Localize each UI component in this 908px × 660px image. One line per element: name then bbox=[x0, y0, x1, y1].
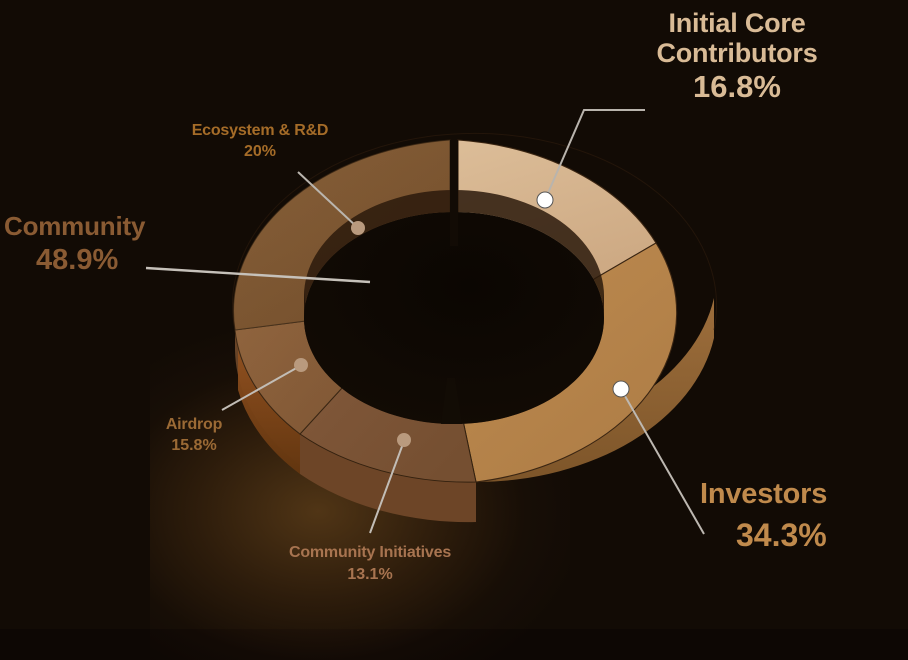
label-airdrop-name: Airdrop bbox=[140, 416, 248, 434]
label-community-name: Community bbox=[4, 212, 164, 241]
label-investors: Investors 34.3% bbox=[700, 478, 900, 554]
label-initial-core-contributors-line2: Contributors bbox=[639, 38, 835, 68]
label-investors-name: Investors bbox=[700, 478, 900, 510]
label-initial-core-contributors: Initial Core Contributors 16.8% bbox=[639, 8, 835, 105]
callout-dot-airdrop bbox=[294, 358, 308, 372]
donut-body bbox=[232, 133, 716, 522]
label-ecosystem-rd-value: 20% bbox=[170, 143, 350, 161]
label-community: Community 48.9% bbox=[4, 212, 164, 277]
label-initial-core-contributors-value: 16.8% bbox=[639, 70, 835, 105]
label-initial-core-contributors-line1: Initial Core bbox=[639, 8, 835, 38]
label-investors-value: 34.3% bbox=[736, 518, 900, 554]
chart-canvas: Initial Core Contributors 16.8% Investor… bbox=[0, 0, 908, 629]
label-community-initiatives: Community Initiatives 13.1% bbox=[262, 544, 478, 584]
label-community-initiatives-value: 13.1% bbox=[262, 566, 478, 584]
label-airdrop-value: 15.8% bbox=[140, 437, 248, 455]
callout-dot-initial-core-contributors bbox=[537, 192, 553, 208]
callout-dot-ecosystem-rd bbox=[351, 221, 365, 235]
label-ecosystem-rd: Ecosystem & R&D 20% bbox=[170, 122, 350, 161]
label-ecosystem-rd-name: Ecosystem & R&D bbox=[170, 122, 350, 140]
segment-gap bbox=[450, 140, 458, 246]
label-community-value: 48.9% bbox=[36, 244, 164, 276]
label-airdrop: Airdrop 15.8% bbox=[140, 416, 248, 455]
label-community-initiatives-name: Community Initiatives bbox=[262, 544, 478, 562]
callout-dot-investors bbox=[613, 381, 629, 397]
callout-dot-community-initiatives bbox=[397, 433, 411, 447]
